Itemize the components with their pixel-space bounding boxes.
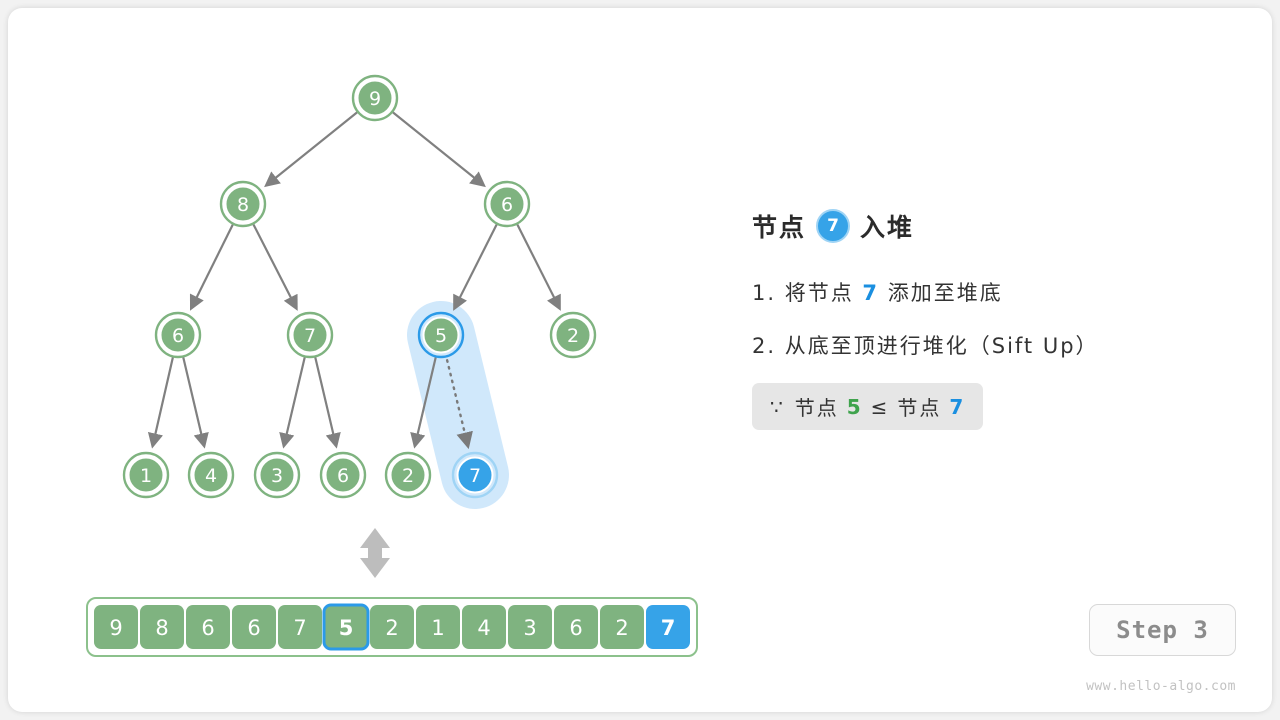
tree-node-value: 6 [172, 325, 184, 347]
step-1-after: 添加至堆底 [888, 281, 1003, 305]
tree-node: 6 [321, 453, 365, 497]
array-cell: 7 [646, 605, 690, 649]
array-cell: 5 [324, 605, 368, 649]
tree-node-value: 7 [304, 325, 316, 347]
step-badge: Step 3 [1089, 604, 1236, 656]
tree-edge [192, 225, 233, 308]
tree-node: 8 [221, 182, 265, 226]
tree-node: 2 [386, 453, 430, 497]
tree-node-value: 8 [237, 194, 249, 216]
tree-node-value: 5 [435, 325, 447, 347]
tree-node-value: 9 [369, 88, 381, 110]
array-cell-value: 7 [293, 616, 306, 640]
tree-node: 5 [419, 313, 463, 357]
array-cell-value: 3 [523, 616, 536, 640]
tree-edge [315, 357, 336, 444]
step-1-before: 将节点 [785, 281, 854, 305]
step-2-index: 2. [752, 334, 776, 358]
panel-title-prefix: 节点 [752, 208, 806, 244]
tree-node-value: 2 [567, 325, 579, 347]
tree-edge [253, 224, 295, 307]
array-representation: 9866752143627 [87, 598, 697, 656]
panel-title-suffix: 入堆 [860, 208, 914, 244]
tree-node-value: 1 [140, 465, 152, 487]
tree-node-value: 6 [337, 465, 349, 487]
array-cell: 2 [600, 605, 644, 649]
panel-title: 节点 7 入堆 [752, 205, 1222, 247]
tree-edge [517, 225, 559, 308]
array-cell: 4 [462, 605, 506, 649]
array-cell-value: 2 [615, 616, 628, 640]
array-cell: 3 [508, 605, 552, 649]
note-operator: ≤ [871, 395, 890, 419]
array-cell-value: 9 [109, 616, 122, 640]
tree-node: 7 [288, 313, 332, 357]
tree-edge [153, 357, 173, 444]
array-cell: 8 [140, 605, 184, 649]
array-cell-value: 5 [339, 616, 354, 640]
array-cell-value: 6 [201, 616, 214, 640]
tree-edges [153, 112, 559, 444]
step-item-1: 1. 将节点 7 添加至堆底 [752, 277, 1222, 307]
array-cell-value: 2 [385, 616, 398, 640]
array-cell-value: 6 [247, 616, 260, 640]
tree-edge [267, 112, 357, 184]
tree-node: 3 [255, 453, 299, 497]
array-cell-value: 8 [155, 616, 168, 640]
tree-node-value: 6 [501, 194, 513, 216]
array-cell: 6 [554, 605, 598, 649]
note-left-label: 节点 [795, 392, 839, 421]
double-arrow-vertical-icon [360, 528, 390, 578]
note-right-label: 节点 [897, 392, 941, 421]
step-1-highlight: 7 [862, 281, 879, 305]
comparison-note: ∵ 节点 5 ≤ 节点 7 [752, 383, 983, 430]
step-item-2: 2. 从底至顶进行堆化（Sift Up） [752, 330, 1222, 360]
explanation-panel: 节点 7 入堆 1. 将节点 7 添加至堆底 2. 从底至顶进行堆化（Sift … [752, 205, 1222, 430]
tree-node-value: 7 [469, 465, 481, 487]
tree-node: 2 [551, 313, 595, 357]
array-cell: 2 [370, 605, 414, 649]
array-cell-value: 1 [431, 616, 444, 640]
step-1-index: 1. [752, 281, 776, 305]
step-list: 1. 将节点 7 添加至堆底 2. 从底至顶进行堆化（Sift Up） ∵ 节点… [752, 277, 1222, 430]
tree-node: 1 [124, 453, 168, 497]
tree-node: 9 [353, 76, 397, 120]
screenshot-root: 9866752143627 9866752143627 节点 7 入堆 1. 将… [0, 0, 1280, 720]
array-cell: 1 [416, 605, 460, 649]
array-cell-value: 7 [661, 616, 676, 640]
note-right-value: 7 [949, 395, 965, 419]
array-cell-value: 4 [477, 616, 490, 640]
watermark: www.hello-algo.com [1086, 679, 1236, 694]
tree-node: 6 [156, 313, 200, 357]
tree-node-value: 3 [271, 465, 283, 487]
tree-node: 7 [453, 453, 497, 497]
tree-edge [183, 357, 204, 444]
array-cell: 6 [232, 605, 276, 649]
tree-nodes: 9866752143627 [124, 76, 595, 497]
tree-edge [284, 357, 305, 444]
note-left-value: 5 [847, 395, 863, 419]
tree-node-value: 4 [205, 465, 217, 487]
panel-title-node-badge: 7 [816, 209, 850, 243]
array-cell: 7 [278, 605, 322, 649]
note-symbol: ∵ [770, 395, 785, 419]
array-cell: 6 [186, 605, 230, 649]
array-cell-value: 6 [569, 616, 582, 640]
tree-node: 6 [485, 182, 529, 226]
tree-node-value: 2 [402, 465, 414, 487]
tree-node: 4 [189, 453, 233, 497]
array-cell: 9 [94, 605, 138, 649]
tree-edge [393, 112, 483, 184]
tree-edge [455, 225, 497, 308]
step-2-before: 从底至顶进行堆化（Sift Up） [785, 334, 1099, 358]
